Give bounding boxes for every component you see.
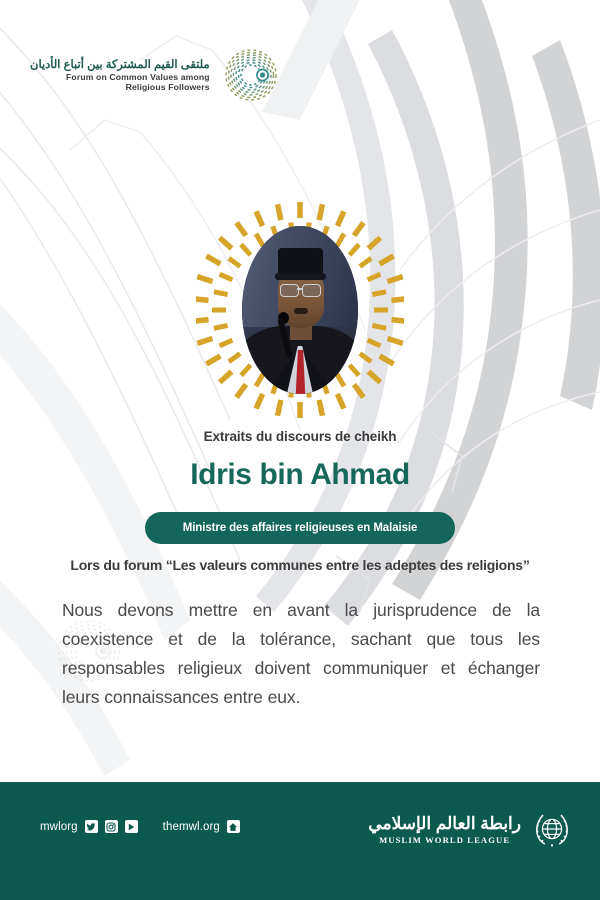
brand-english-line-1: Forum on Common Values among	[30, 72, 210, 82]
header: ملتقى القيم المشتركة بين أتباع الأديان F…	[0, 48, 600, 114]
speaker-role-label: Ministre des affaires religieuses en Mal…	[183, 522, 418, 534]
speaker-photo	[242, 226, 358, 394]
brand-text: ملتقى القيم المشتركة بين أتباع الأديان F…	[30, 58, 210, 93]
organization-english-name: MUSLIM WORLD LEAGUE	[368, 835, 521, 845]
quote-block: Nous devons mettre en avant la jurisprud…	[62, 596, 540, 712]
speech-kicker: Extraits du discours de cheikh	[0, 429, 600, 444]
home-icon[interactable]	[227, 820, 240, 833]
poster-card: ملتقى القيم المشتركة بين أتباع الأديان F…	[0, 0, 600, 900]
speaker-name: Idris bin Ahmad	[0, 458, 600, 492]
youtube-icon[interactable]	[125, 820, 138, 833]
instagram-icon[interactable]	[105, 820, 118, 833]
organization-arabic-name: رابطة العالم الإسلامي	[368, 815, 521, 834]
quote-text: Nous devons mettre en avant la jurisprud…	[62, 596, 540, 712]
muslim-world-league-globe-wreath-emblem-icon	[530, 808, 574, 852]
event-title: Lors du forum “Les valeurs communes entr…	[0, 557, 600, 573]
organization-wordmark: رابطة العالم الإسلامي MUSLIM WORLD LEAGU…	[368, 815, 521, 846]
speaker-portrait	[242, 212, 358, 408]
twitter-icon[interactable]	[85, 820, 98, 833]
footer: mwlorg themwl.org	[0, 782, 600, 900]
website-url[interactable]: themwl.org	[163, 821, 220, 833]
brand-english-line-2: Religious Followers	[30, 82, 210, 92]
brand-lockup: ملتقى القيم المشتركة بين أتباع الأديان F…	[30, 48, 278, 102]
brand-arabic-title: ملتقى القيم المشتركة بين أتباع الأديان	[30, 58, 210, 72]
forum-concentric-rings-logo-icon	[224, 48, 278, 102]
background-decoration	[0, 0, 600, 900]
footer-social-row: mwlorg themwl.org	[40, 820, 240, 833]
social-handle: mwlorg	[40, 821, 78, 833]
speaker-role-badge: Ministre des affaires religieuses en Mal…	[145, 512, 455, 544]
organization-lockup: رابطة العالم الإسلامي MUSLIM WORLD LEAGU…	[368, 808, 574, 852]
